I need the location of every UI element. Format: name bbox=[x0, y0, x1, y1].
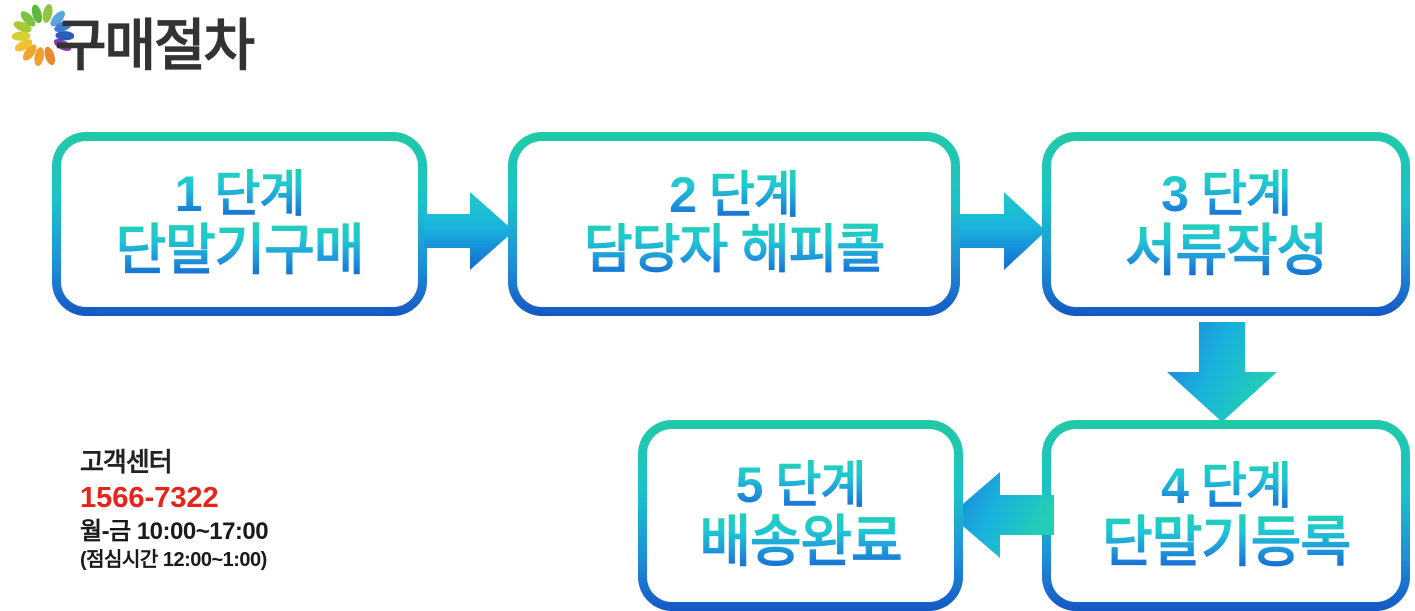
step-3-label: 서류작성 bbox=[1125, 222, 1327, 279]
customer-center-hours: 월-금 10:00~17:00 bbox=[80, 517, 380, 547]
arrow-right-step2-step3 bbox=[960, 190, 1046, 272]
page-header: 구매절차 bbox=[0, 0, 420, 108]
step-3-number: 3 단계 bbox=[1161, 169, 1291, 220]
step-5-label: 배송완료 bbox=[699, 513, 901, 570]
page-title: 구매절차 bbox=[55, 18, 253, 74]
arrow-down-step3-step4 bbox=[1163, 322, 1281, 422]
step-box-5[interactable]: 5 단계 배송완료 bbox=[638, 420, 963, 611]
step-2-label: 담당자 해피콜 bbox=[584, 223, 884, 277]
step-1-number: 1 단계 bbox=[175, 169, 305, 220]
step-4-number: 4 단계 bbox=[1161, 461, 1291, 512]
step-box-3[interactable]: 3 단계 서류작성 bbox=[1042, 132, 1410, 316]
customer-center-title: 고객센터 bbox=[80, 446, 380, 479]
customer-center-block: 고객센터 1566-7322 월-금 10:00~17:00 (점심시간 12:… bbox=[80, 446, 380, 573]
step-1-label: 단말기구매 bbox=[115, 222, 363, 278]
step-2-number: 2 단계 bbox=[669, 170, 799, 221]
step-box-1[interactable]: 1 단계 단말기구매 bbox=[52, 132, 427, 316]
customer-center-lunch-hours: (점심시간 12:00~1:00) bbox=[80, 548, 380, 573]
customer-center-phone[interactable]: 1566-7322 bbox=[80, 480, 380, 516]
step-4-label: 단말기등록 bbox=[1102, 514, 1350, 570]
arrow-left-step4-step5 bbox=[950, 470, 1054, 560]
step-5-number: 5 단계 bbox=[736, 460, 866, 511]
step-box-4[interactable]: 4 단계 단말기등록 bbox=[1042, 420, 1410, 611]
step-box-2[interactable]: 2 단계 담당자 해피콜 bbox=[508, 132, 960, 316]
arrow-right-step1-step2 bbox=[424, 190, 514, 272]
